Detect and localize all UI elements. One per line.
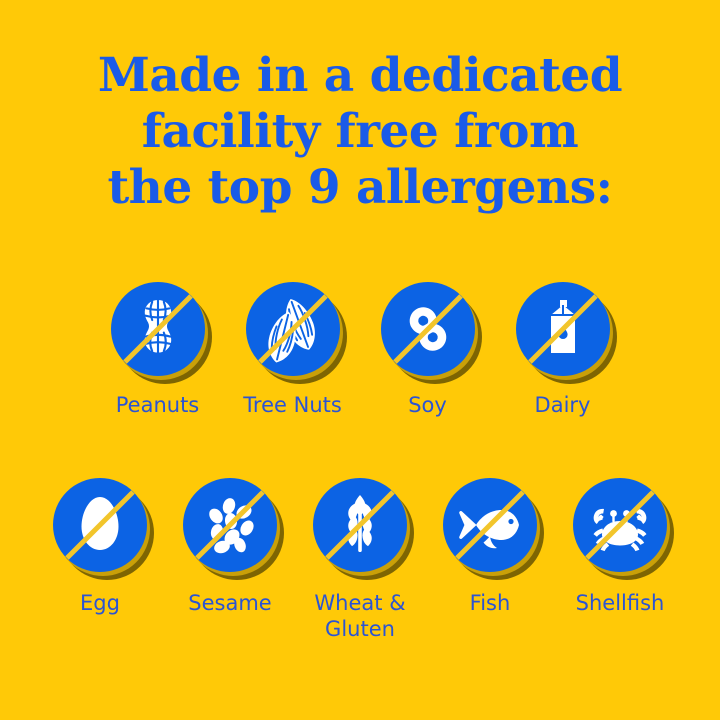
milk-carton-icon xyxy=(516,282,610,376)
peanut-icon xyxy=(111,282,205,376)
allergen-badge-wheat-gluten xyxy=(313,478,407,572)
page-title: Made in a dedicated facility free from t… xyxy=(0,48,720,216)
soybean-icon xyxy=(381,282,475,376)
crab-icon xyxy=(573,478,667,572)
egg-icon xyxy=(53,478,147,572)
badge-disc xyxy=(443,478,537,572)
page-title-line-3: the top 9 allergens: xyxy=(0,160,720,216)
allergen-label: Shellfish xyxy=(576,590,665,616)
allergen-item-dairy: Dairy xyxy=(495,282,630,418)
badge-disc xyxy=(381,282,475,376)
allergen-item-egg: Egg xyxy=(35,478,165,616)
allergen-badge-dairy xyxy=(516,282,610,376)
badge-disc xyxy=(183,478,277,572)
allergen-item-tree-nuts: Tree Nuts xyxy=(225,282,360,418)
allergen-badge-fish xyxy=(443,478,537,572)
allergen-row-first: Peanuts xyxy=(0,282,720,418)
sesame-seeds-icon xyxy=(183,478,277,572)
allergen-label: Sesame xyxy=(188,590,271,616)
allergen-badge-soy xyxy=(381,282,475,376)
allergen-label: Soy xyxy=(408,392,447,418)
allergen-badge-peanuts xyxy=(111,282,205,376)
badge-disc xyxy=(313,478,407,572)
badge-disc xyxy=(111,282,205,376)
wheat-stalk-icon xyxy=(313,478,407,572)
allergen-item-fish: Fish xyxy=(425,478,555,616)
allergen-item-soy: Soy xyxy=(360,282,495,418)
badge-disc xyxy=(246,282,340,376)
allergen-label: Peanuts xyxy=(116,392,200,418)
allergen-badge-egg xyxy=(53,478,147,572)
page-title-line-1: Made in a dedicated xyxy=(0,48,720,104)
allergen-badge-sesame xyxy=(183,478,277,572)
almond-icon xyxy=(246,282,340,376)
allergen-badge-shellfish xyxy=(573,478,667,572)
allergen-item-peanuts: Peanuts xyxy=(90,282,225,418)
page-title-line-2: facility free from xyxy=(0,104,720,160)
badge-disc xyxy=(516,282,610,376)
allergen-row-second: Egg xyxy=(0,478,720,642)
allergen-badge-tree-nuts xyxy=(246,282,340,376)
allergen-item-shellfish: Shellfish xyxy=(555,478,685,616)
badge-disc xyxy=(53,478,147,572)
allergen-item-sesame: Sesame xyxy=(165,478,295,616)
badge-disc xyxy=(573,478,667,572)
allergen-label: Fish xyxy=(470,590,511,616)
allergen-free-poster: Made in a dedicated facility free from t… xyxy=(0,0,720,720)
allergen-item-wheat-gluten: Wheat & Gluten xyxy=(295,478,425,642)
allergen-label: Wheat & Gluten xyxy=(314,590,405,642)
allergen-label: Tree Nuts xyxy=(243,392,342,418)
fish-icon xyxy=(443,478,537,572)
allergen-label: Dairy xyxy=(535,392,591,418)
allergen-label: Egg xyxy=(80,590,120,616)
